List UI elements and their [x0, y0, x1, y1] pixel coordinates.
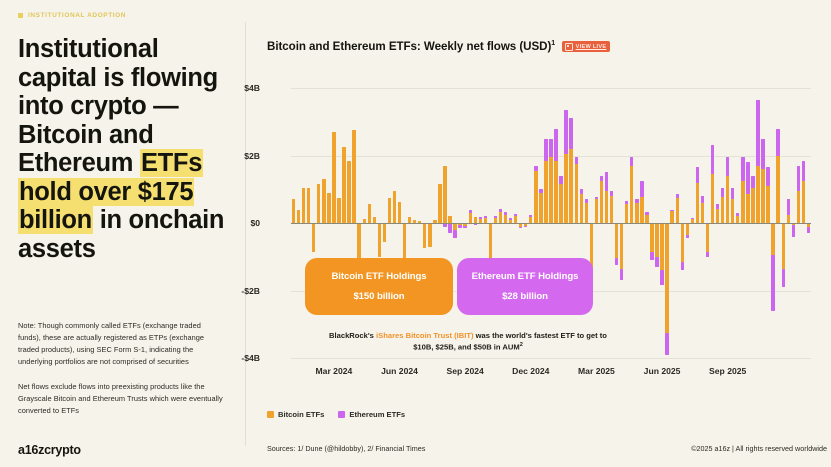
- bar-segment-ethereum: [458, 225, 461, 228]
- bar-segment-bitcoin: [398, 202, 401, 223]
- bar-segment-ethereum: [766, 167, 769, 186]
- bar-segment-bitcoin: [554, 161, 557, 223]
- legend-label-ethereum: Ethereum ETFs: [349, 410, 405, 419]
- bar-segment-bitcoin: [564, 154, 567, 223]
- bar-segment-ethereum: [665, 333, 668, 355]
- bar-segment-ethereum: [448, 223, 451, 233]
- bar-segment-bitcoin: [706, 223, 709, 252]
- bar-segment-bitcoin: [322, 179, 325, 223]
- bar-segment-ethereum: [676, 194, 679, 197]
- bar-segment-ethereum: [554, 129, 557, 161]
- bar-segment-bitcoin: [559, 184, 562, 223]
- bar-segment-ethereum: [595, 197, 598, 200]
- bar-segment-bitcoin: [352, 130, 355, 223]
- bar-segment-bitcoin: [368, 204, 371, 223]
- bar-segment-bitcoin: [544, 161, 547, 223]
- x-axis-tick-label: Jun 2024: [381, 366, 418, 376]
- bar-segment-bitcoin: [569, 149, 572, 223]
- bar-segment-ethereum: [731, 188, 734, 200]
- bar-segment-ethereum: [453, 230, 456, 238]
- bar-segment-bitcoin: [761, 169, 764, 223]
- bar-segment-ethereum: [746, 162, 749, 194]
- bar-segment-ethereum: [807, 227, 810, 233]
- bar-segment-bitcoin: [625, 204, 628, 223]
- bar-segment-bitcoin: [595, 199, 598, 223]
- bar-segment-ethereum: [549, 139, 552, 158]
- external-link-icon: [565, 43, 573, 51]
- chart-title-footnote: 1: [551, 40, 555, 47]
- note-2: Net flows exclude flows into preexisting…: [18, 381, 223, 417]
- bar-segment-bitcoin: [332, 132, 335, 223]
- bar-segment-ethereum: [686, 235, 689, 238]
- bar-segment-bitcoin: [610, 196, 613, 223]
- chart-panel: Bitcoin and Ethereum ETFs: Weekly net fl…: [258, 0, 831, 467]
- bar-segment-bitcoin: [766, 186, 769, 223]
- x-axis-tick-label: Sep 2025: [709, 366, 746, 376]
- chart-plot-area: $4B$2B$0-$2B-$4B Mar 2024Jun 2024Sep 202…: [291, 88, 811, 358]
- bar-segment-ethereum: [630, 157, 633, 165]
- a16zcrypto-logo: a16zcrypto: [18, 443, 81, 457]
- x-axis-tick-label: Dec 2024: [512, 366, 549, 376]
- bar-segment-bitcoin: [630, 166, 633, 223]
- bar-segment-bitcoin: [650, 223, 653, 252]
- bar-segment-ethereum: [463, 226, 466, 228]
- bar-segment-bitcoin: [534, 171, 537, 223]
- bar-segment-bitcoin: [388, 198, 391, 223]
- bar-segment-bitcoin: [701, 203, 704, 223]
- bar-segment-ethereum: [494, 216, 497, 218]
- bar-segment-ethereum: [711, 145, 714, 174]
- bar-segment-bitcoin: [655, 223, 658, 257]
- bar-segment-ethereum: [620, 269, 623, 281]
- bar-segment-ethereum: [605, 172, 608, 191]
- bar-segment-ethereum: [469, 210, 472, 213]
- bar-segment-bitcoin: [580, 194, 583, 223]
- bar-segment-ethereum: [650, 252, 653, 260]
- bar-segment-bitcoin: [782, 223, 785, 269]
- bar-segment-bitcoin: [549, 157, 552, 223]
- bar-segment-ethereum: [802, 161, 805, 181]
- bar-segment-bitcoin: [448, 216, 451, 223]
- bar-segment-bitcoin: [676, 198, 679, 223]
- bar-segment-bitcoin: [615, 223, 618, 258]
- bar-segment-bitcoin: [787, 215, 790, 223]
- bar-segment-ethereum: [797, 166, 800, 191]
- bar-segment-ethereum: [610, 191, 613, 196]
- bar-segment-bitcoin: [605, 191, 608, 223]
- bar-segment-bitcoin: [776, 156, 779, 224]
- bar-segment-bitcoin: [302, 188, 305, 223]
- bar-segment-bitcoin: [640, 197, 643, 223]
- copyright-text: ©2025 a16z | All rights reserved worldwi…: [691, 444, 827, 453]
- y-axis-tick-label: -$4B: [241, 353, 260, 363]
- bar-segment-ethereum: [645, 212, 648, 215]
- bar-segment-bitcoin: [317, 184, 320, 223]
- annotation-before: BlackRock's: [329, 331, 376, 340]
- bar-segment-ethereum: [479, 217, 482, 219]
- bar-segment-ethereum: [615, 258, 618, 265]
- bar-segment-bitcoin: [797, 191, 800, 223]
- bar-segment-bitcoin: [736, 216, 739, 223]
- callout-bitcoin-value: $150 billion: [353, 291, 404, 302]
- bar-segment-bitcoin: [383, 223, 386, 242]
- legend-item-bitcoin: Bitcoin ETFs: [267, 410, 324, 419]
- bar-segment-ethereum: [509, 218, 512, 219]
- bar-segment-bitcoin: [802, 181, 805, 223]
- bar-segment-ethereum: [514, 214, 517, 216]
- bar-segment-ethereum: [726, 157, 729, 176]
- bar-segment-ethereum: [564, 110, 567, 154]
- bar-segment-ethereum: [736, 213, 739, 216]
- bar-segment-ethereum: [681, 262, 684, 270]
- bar-segment-ethereum: [756, 100, 759, 166]
- bar-segment-bitcoin: [337, 198, 340, 223]
- annotation-footnote: 2: [520, 342, 523, 348]
- callout-ethereum-holdings: Ethereum ETF Holdings $28 billion: [457, 258, 593, 315]
- bar-segment-ethereum: [761, 139, 764, 169]
- bar-segment-ethereum: [721, 188, 724, 196]
- chart-title: Bitcoin and Ethereum ETFs: Weekly net fl…: [267, 40, 555, 53]
- bar-segment-bitcoin: [312, 223, 315, 252]
- bar-segment-ethereum: [575, 157, 578, 164]
- bar-segment-ethereum: [484, 216, 487, 218]
- y-axis-tick-label: $0: [250, 218, 260, 228]
- bar-segment-bitcoin: [741, 181, 744, 223]
- eyebrow-tag: INSTITUTIONAL ADOPTION: [18, 12, 242, 19]
- bar-segment-bitcoin: [428, 223, 431, 247]
- bar-segment-bitcoin: [499, 212, 502, 223]
- bar-segment-bitcoin: [600, 181, 603, 223]
- bar-segment-ethereum: [782, 269, 785, 288]
- bar-segment-ethereum: [499, 209, 502, 212]
- bar-segment-bitcoin: [665, 223, 668, 333]
- bar-segment-bitcoin: [751, 188, 754, 223]
- bar-segment-ethereum: [640, 181, 643, 196]
- notes-block: Note: Though commonly called ETFs (excha…: [18, 320, 223, 430]
- chart-legend: Bitcoin ETFs Ethereum ETFs: [267, 410, 405, 419]
- note-1: Note: Though commonly called ETFs (excha…: [18, 320, 223, 368]
- bar-segment-ethereum: [660, 270, 663, 285]
- bar-segment-bitcoin: [378, 223, 381, 257]
- chart-header: Bitcoin and Ethereum ETFs: Weekly net fl…: [267, 40, 610, 53]
- bar-segment-bitcoin: [771, 223, 774, 255]
- sources-text: Sources: 1/ Dune (@hildobby), 2/ Financi…: [267, 444, 425, 453]
- callout-ethereum-title: Ethereum ETF Holdings: [472, 271, 579, 282]
- y-axis-tick-label: -$2B: [241, 286, 260, 296]
- bar-segment-bitcoin: [681, 223, 684, 262]
- bar-segment-bitcoin: [342, 147, 345, 223]
- view-live-label: VIEW LIVE: [576, 44, 607, 50]
- bar-segment-bitcoin: [670, 211, 673, 223]
- bar-segment-bitcoin: [696, 183, 699, 224]
- x-axis-tick-label: Sep 2024: [447, 366, 484, 376]
- legend-item-ethereum: Ethereum ETFs: [338, 410, 405, 419]
- bar-segment-bitcoin: [297, 210, 300, 223]
- eyebrow-square-icon: [18, 13, 23, 18]
- bar-segment-bitcoin: [438, 184, 441, 223]
- x-axis-tick-label: Mar 2024: [316, 366, 353, 376]
- bar-segment-bitcoin: [620, 223, 623, 269]
- bar-segment-bitcoin: [393, 191, 396, 223]
- bar-segment-ethereum: [741, 157, 744, 181]
- bar-segment-ethereum: [504, 212, 507, 215]
- bar-segment-bitcoin: [443, 166, 446, 223]
- bar-segment-bitcoin: [711, 174, 714, 223]
- bar-segment-bitcoin: [756, 166, 759, 223]
- bar-segment-bitcoin: [721, 197, 724, 223]
- bar-segment-bitcoin: [746, 194, 749, 223]
- bar-segment-bitcoin: [327, 193, 330, 223]
- bar-segment-ethereum: [544, 139, 547, 161]
- bar-segment-ethereum: [519, 227, 522, 228]
- bar-segment-bitcoin: [585, 203, 588, 223]
- eyebrow-label: INSTITUTIONAL ADOPTION: [28, 12, 126, 19]
- zero-axis-line: [291, 223, 811, 224]
- bar-segment-bitcoin: [726, 176, 729, 223]
- page-title: Institutional capital is flowing into cr…: [18, 35, 242, 263]
- bar-segment-bitcoin: [292, 199, 295, 223]
- legend-label-bitcoin: Bitcoin ETFs: [278, 410, 324, 419]
- bar-segment-ethereum: [776, 129, 779, 156]
- left-panel: INSTITUTIONAL ADOPTION Institutional cap…: [0, 0, 258, 467]
- bar-segment-ethereum: [751, 176, 754, 188]
- bar-segment-bitcoin: [469, 213, 472, 223]
- bar-segment-bitcoin: [731, 199, 734, 223]
- bar-segment-ethereum: [534, 166, 537, 171]
- bar-segment-ethereum: [580, 189, 583, 194]
- bar-segment-ethereum: [691, 218, 694, 219]
- bar-segment-ethereum: [701, 196, 704, 203]
- chart-title-text: Bitcoin and Ethereum ETFs: Weekly net fl…: [267, 40, 551, 53]
- bar-segment-ethereum: [696, 167, 699, 182]
- bar-segment-ethereum: [792, 225, 795, 237]
- callout-bitcoin-holdings: Bitcoin ETF Holdings $150 billion: [305, 258, 453, 315]
- bar-segment-ethereum: [706, 252, 709, 257]
- bar-segment-ethereum: [539, 189, 542, 192]
- bar-segment-ethereum: [524, 226, 527, 227]
- x-axis-tick-label: Mar 2025: [578, 366, 615, 376]
- bar-segment-bitcoin: [645, 215, 648, 223]
- gridline: [291, 358, 811, 359]
- bar-segment-ethereum: [655, 257, 658, 267]
- bar-segment-bitcoin: [686, 223, 689, 235]
- bar-segment-ethereum: [559, 176, 562, 184]
- legend-swatch-ethereum: [338, 411, 345, 418]
- chart-annotation: BlackRock's iShares Bitcoin Trust (IBIT)…: [318, 330, 618, 353]
- bar-segment-ethereum: [635, 199, 638, 203]
- bar-segment-ethereum: [787, 199, 790, 214]
- callout-bitcoin-title: Bitcoin ETF Holdings: [331, 271, 426, 282]
- y-axis-tick-label: $2B: [244, 151, 260, 161]
- bar-segment-bitcoin: [514, 216, 517, 223]
- bar-segment-ethereum: [585, 199, 588, 203]
- bar-segment-ethereum: [716, 204, 719, 209]
- bar-segment-bitcoin: [575, 164, 578, 223]
- bar-segment-bitcoin: [660, 223, 663, 270]
- bar-segment-bitcoin: [347, 161, 350, 223]
- annotation-accent: iShares Bitcoin Trust (IBIT): [376, 331, 473, 340]
- bar-segment-bitcoin: [539, 193, 542, 223]
- legend-swatch-bitcoin: [267, 411, 274, 418]
- bar-segment-bitcoin: [504, 215, 507, 223]
- bar-segment-bitcoin: [453, 223, 456, 230]
- bar-segment-ethereum: [529, 215, 532, 217]
- x-axis-tick-label: Jun 2025: [644, 366, 681, 376]
- y-axis-tick-label: $4B: [244, 83, 260, 93]
- bar-segment-bitcoin: [635, 203, 638, 223]
- bar-segment-bitcoin: [423, 223, 426, 248]
- bar-segment-bitcoin: [307, 188, 310, 223]
- bar-segment-ethereum: [600, 176, 603, 181]
- bar-segment-ethereum: [569, 118, 572, 148]
- bar-segment-ethereum: [771, 255, 774, 311]
- bar-segment-bitcoin: [716, 209, 719, 223]
- callout-ethereum-value: $28 billion: [502, 291, 548, 302]
- view-live-button[interactable]: VIEW LIVE: [562, 41, 610, 52]
